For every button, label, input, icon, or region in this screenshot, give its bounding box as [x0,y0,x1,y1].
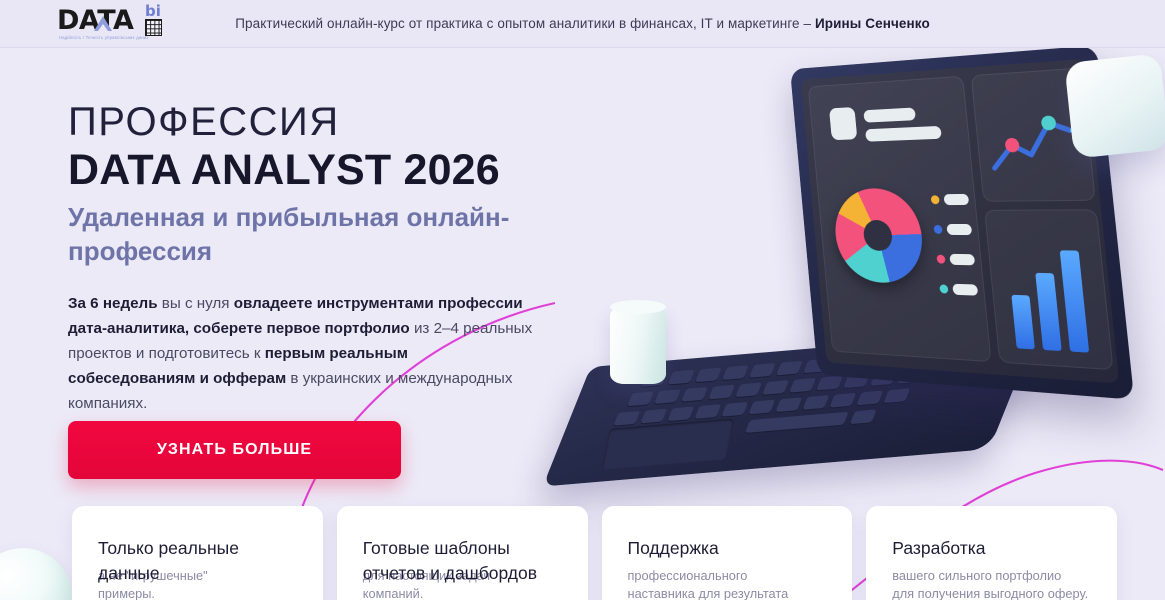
card-desc-line-2: наставника для результата [628,586,789,600]
donut-chart [831,188,926,284]
card-description: вашего сильного портфолио для получения … [892,567,1091,600]
laptop-illustration [565,48,1165,508]
hero-subtitle: Удаленная и прибыльная онлайн-профессия [68,200,588,268]
feature-card[interactable]: Только реальные данные а не "игрушечные"… [72,506,323,600]
bar-2 [1035,273,1061,351]
logo-tagline: Надійність / Точність управлінських дани… [59,35,179,41]
decorative-sphere [0,548,72,600]
card-desc-line-2: примеры. [98,586,155,600]
dashboard-panel-main [808,76,992,362]
learn-more-button[interactable]: УЗНАТЬ БОЛЬШЕ [68,421,401,479]
decorative-cylinder [610,306,666,384]
top-bar: DATA bi Надійність / Точність управлінсь… [0,0,1165,48]
hero-kicker: ПРОФЕССИЯ [68,98,588,146]
card-title: Поддержка [628,536,827,561]
card-desc-line-1: вашего сильного портфолио [892,568,1061,583]
card-desc-line-2: компаний. [363,586,424,600]
feature-card[interactable]: Готовые шаблоны отчетов и дашбордов для … [337,506,588,600]
card-title: Только реальные данные [98,536,297,586]
feature-cards: Только реальные данные а не "игрушечные"… [72,506,1117,600]
page-title: DATA ANALYST 2026 [68,144,588,196]
caption-prefix: Практический онлайн-курс от практика с о… [235,16,815,31]
bar-3 [1060,250,1090,352]
card-desc-line-1: профессионального [628,568,748,583]
hero-copy: ПРОФЕССИЯ DATA ANALYST 2026 Удаленная и … [68,98,588,416]
avatar-placeholder [829,107,857,140]
bar-1 [1011,295,1035,350]
card-title: Разработка [892,536,1091,561]
lede-text-1: вы с нуля [158,295,234,312]
hero-section: ПРОФЕССИЯ DATA ANALYST 2026 Удаленная и … [0,48,1165,600]
top-bar-caption: Практический онлайн-курс от практика с о… [0,16,1165,31]
card-title: Готовые шаблоны отчетов и дашбордов [363,536,562,586]
hero-description: За 6 недель вы с нуля овладеете инструме… [68,291,538,416]
caption-author-name: Ирины Сенченко [815,16,930,31]
feature-card[interactable]: Разработка вашего сильного портфолио для… [866,506,1117,600]
lede-bold-1: За 6 недель [68,295,158,312]
card-description: профессионального наставника для результ… [628,567,827,600]
decorative-cube [1064,53,1165,159]
feature-card[interactable]: Поддержка профессионального наставника д… [602,506,853,600]
card-desc-line-2: для получения выгодного оферу. [892,586,1088,600]
dashboard-panel-bar-chart [984,209,1113,370]
